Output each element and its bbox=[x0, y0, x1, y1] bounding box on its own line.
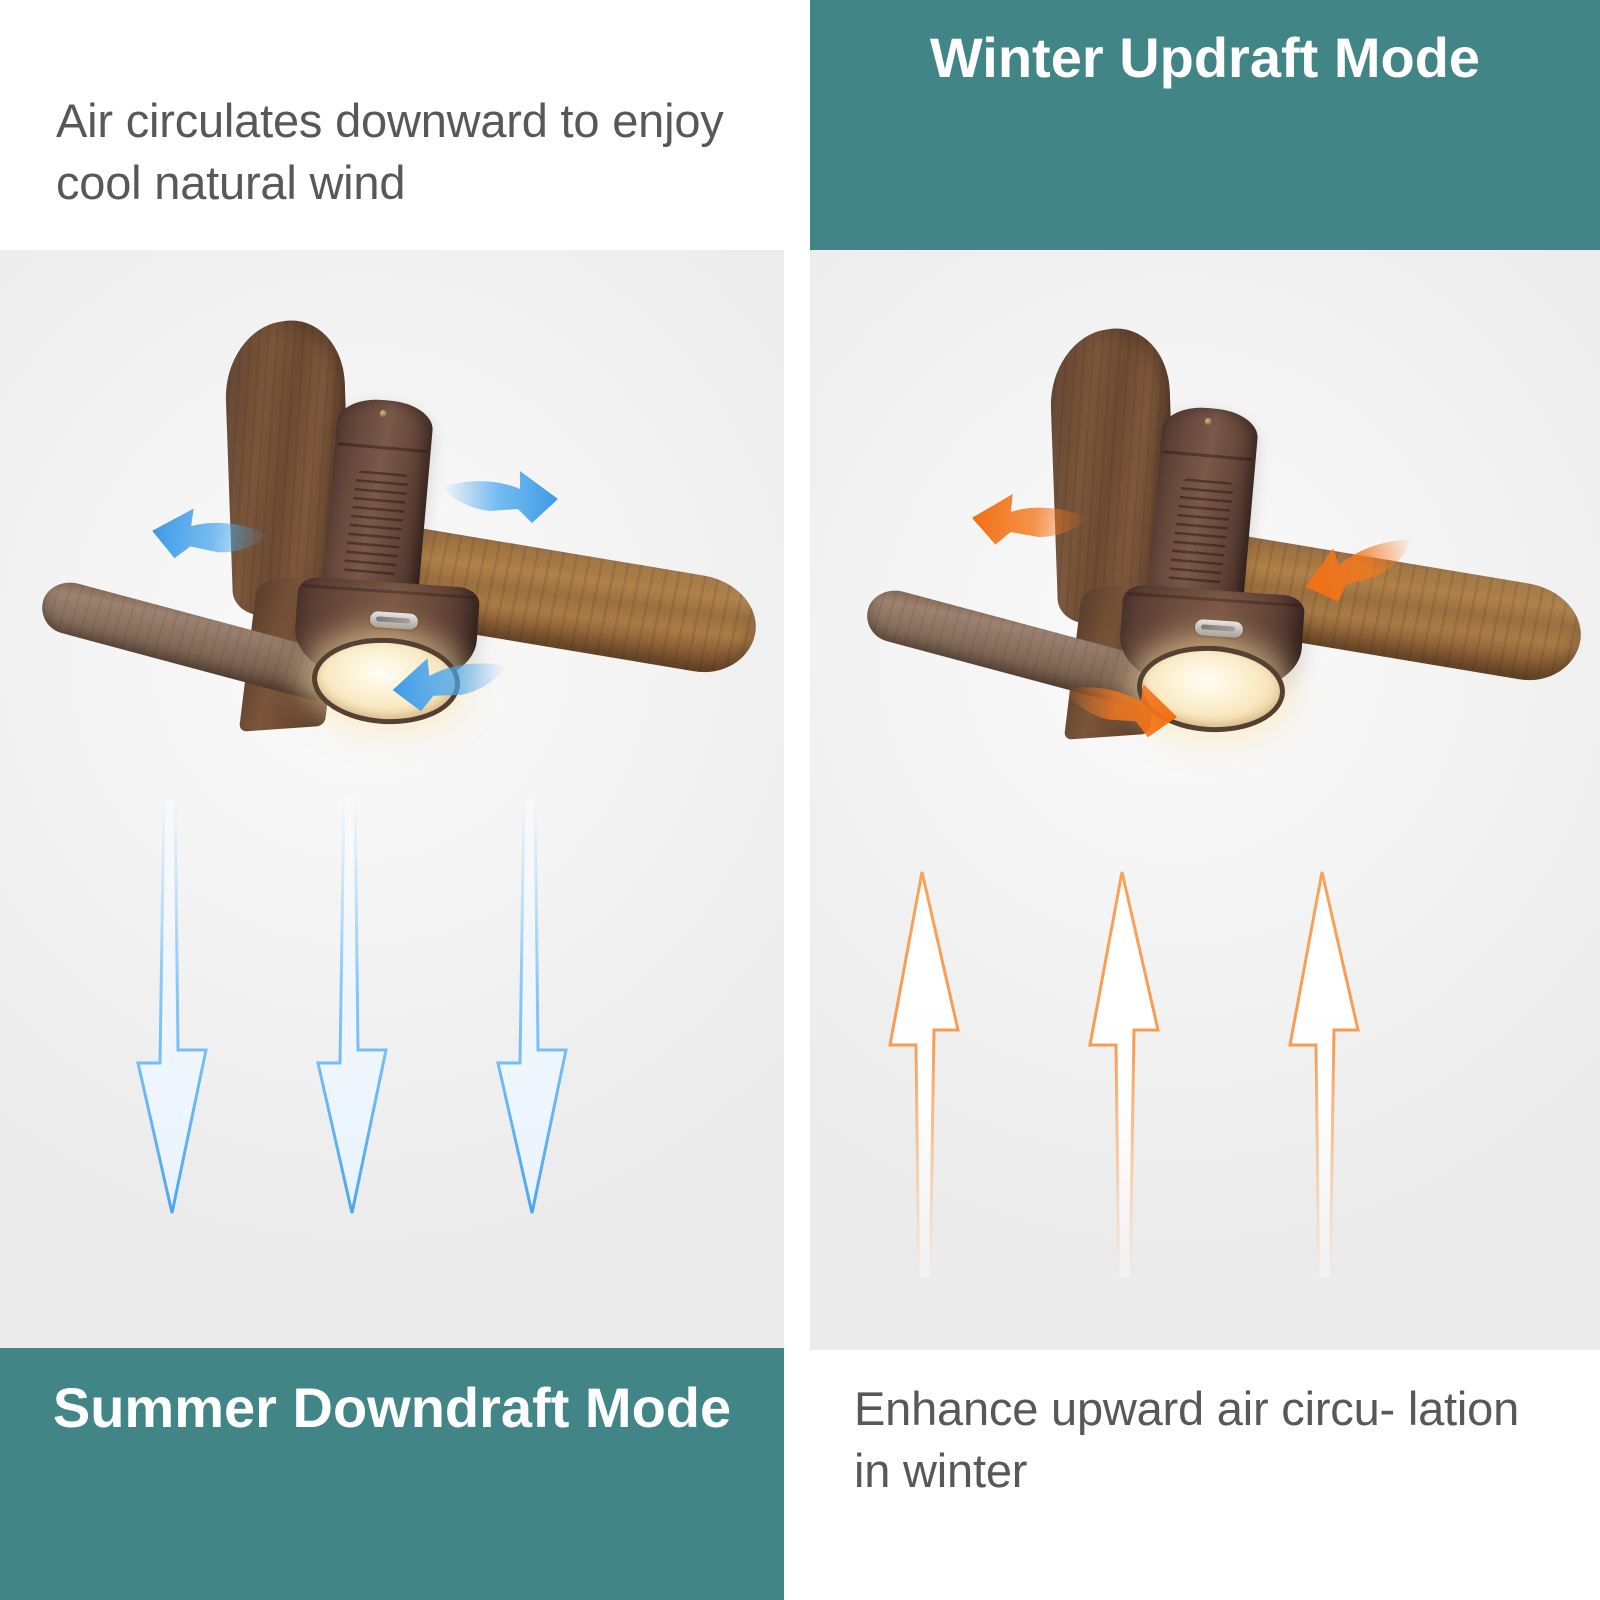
ceiling-fan-winter bbox=[855, 328, 1575, 774]
top-right-heading-panel: Winter Updraft Mode bbox=[810, 0, 1600, 250]
winter-photo-stage bbox=[810, 250, 1600, 1350]
panel-divider bbox=[784, 0, 810, 1600]
fan-motor-housing-upper bbox=[1146, 404, 1260, 617]
updraft-arrow-2 bbox=[1070, 870, 1180, 1280]
housing-seam-ring bbox=[1163, 450, 1253, 461]
summer-caption-box: Air circulates downward to enjoy cool na… bbox=[0, 0, 784, 250]
housing-base-rim bbox=[1127, 592, 1301, 607]
fan-motor-housing-upper bbox=[321, 396, 435, 609]
top-left-caption-panel: Air circulates downward to enjoy cool na… bbox=[0, 0, 784, 250]
housing-screw bbox=[1204, 418, 1212, 426]
winter-heading-box: Winter Updraft Mode bbox=[810, 0, 1600, 250]
winter-updraft-photo-panel bbox=[810, 250, 1600, 1350]
summer-photo-stage bbox=[0, 250, 784, 1348]
brand-badge-icon bbox=[369, 611, 418, 630]
airflow-arrow-right-blue bbox=[440, 465, 560, 527]
winter-caption-box: Enhance upward air circu- lation in wint… bbox=[810, 1350, 1600, 1600]
summer-heading-box: Summer Downdraft Mode bbox=[0, 1348, 784, 1600]
downdraft-arrow-1 bbox=[120, 795, 230, 1215]
brand-badge-icon bbox=[1194, 619, 1243, 638]
summer-heading-text: Summer Downdraft Mode bbox=[53, 1374, 731, 1442]
airflow-arrow-bottom-blue bbox=[387, 644, 513, 718]
housing-screw bbox=[379, 410, 387, 418]
bottom-right-caption-panel: Enhance upward air circu- lation in wint… bbox=[810, 1350, 1600, 1600]
motor-vent-slots bbox=[343, 470, 409, 578]
downdraft-arrow-2 bbox=[300, 795, 410, 1215]
housing-base-rim bbox=[302, 584, 476, 599]
housing-seam-ring bbox=[338, 442, 428, 453]
summer-caption-text: Air circulates downward to enjoy cool na… bbox=[56, 90, 728, 214]
winter-heading-text: Winter Updraft Mode bbox=[930, 24, 1480, 92]
motor-vent-slots bbox=[1168, 478, 1234, 586]
airflow-arrow-left-orange bbox=[967, 484, 1093, 558]
updraft-arrow-3 bbox=[1270, 870, 1380, 1280]
downdraft-arrow-3 bbox=[480, 795, 590, 1215]
winter-caption-text: Enhance upward air circu- lation in wint… bbox=[854, 1378, 1544, 1502]
bottom-left-heading-panel: Summer Downdraft Mode bbox=[0, 1348, 784, 1600]
updraft-arrow-1 bbox=[870, 870, 980, 1280]
infographic-root: Air circulates downward to enjoy cool na… bbox=[0, 0, 1600, 1600]
summer-downdraft-photo-panel bbox=[0, 250, 784, 1348]
